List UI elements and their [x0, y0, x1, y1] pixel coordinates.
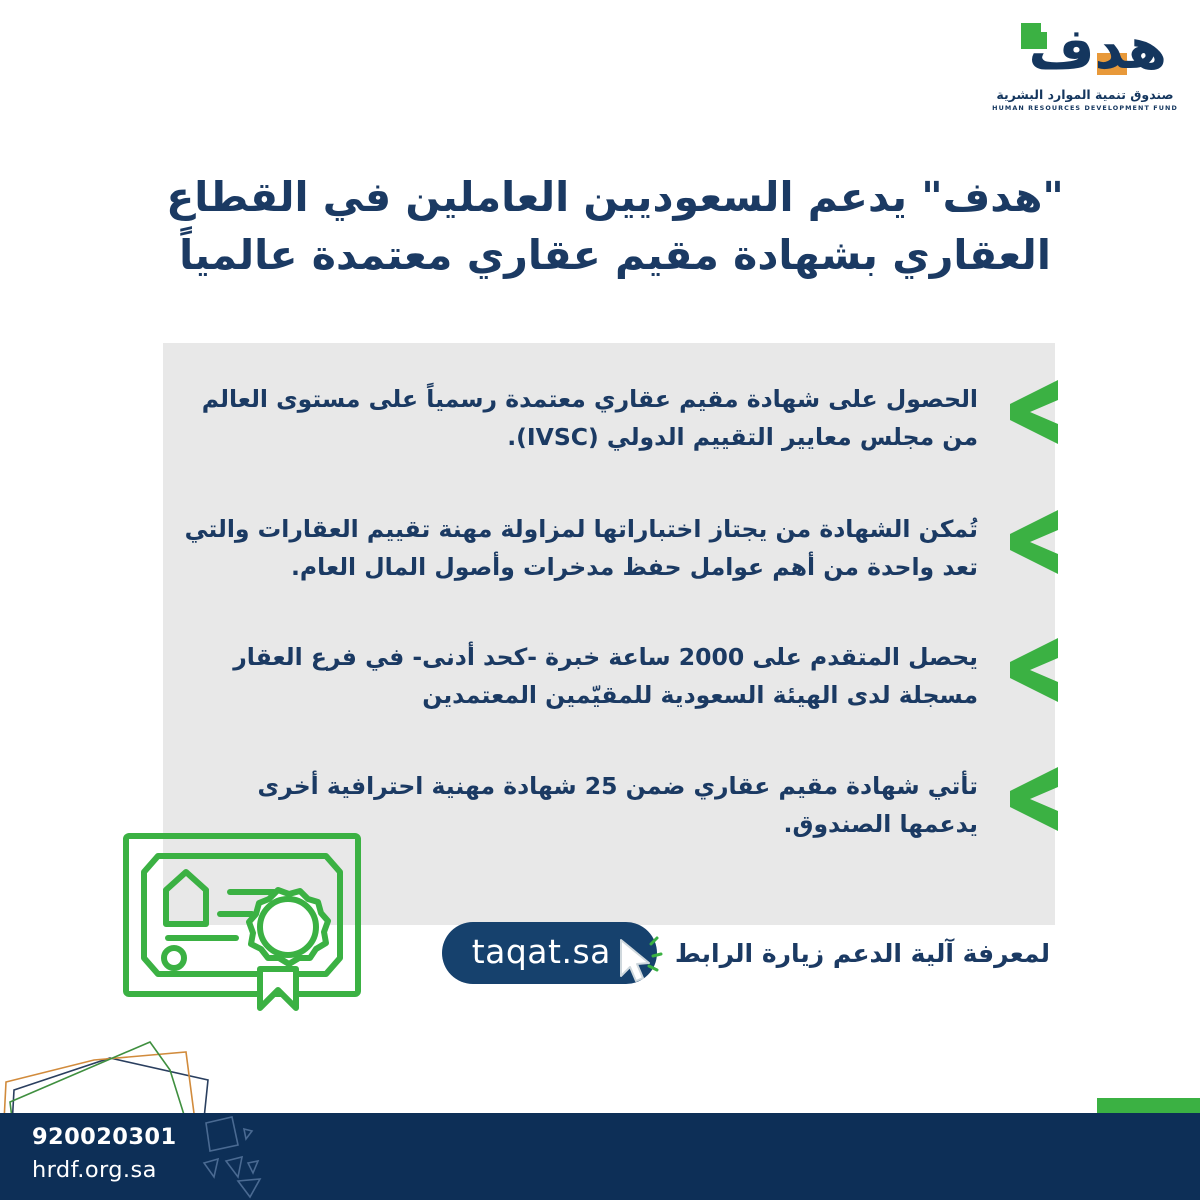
chevron-left-icon: [1000, 508, 1060, 576]
chevron-left-icon: [1000, 765, 1060, 833]
page-title: "هدف" يدعم السعوديين العاملين في القطاع …: [140, 168, 1090, 284]
taqat-link-button[interactable]: taqat.sa: [442, 922, 657, 984]
footer-website[interactable]: hrdf.org.sa: [32, 1157, 157, 1183]
list-item-text: الحصول على شهادة مقيم عقاري معتمدة رسميا…: [180, 378, 978, 456]
list-item: يحصل المتقدم على 2000 ساعة خبرة -كحد أدن…: [180, 636, 1060, 714]
logo-wordmark: هدف: [1028, 16, 1167, 82]
poster-canvas: هدف صندوق تنمية الموارد البشرية HUMAN RE…: [0, 0, 1200, 1200]
list-item-text: تُمكن الشهادة من يجتاز اختباراتها لمزاول…: [180, 508, 978, 586]
list-item-text: يحصل المتقدم على 2000 ساعة خبرة -كحد أدن…: [180, 636, 978, 714]
hrdf-logo: هدف صندوق تنمية الموارد البشرية HUMAN RE…: [990, 20, 1180, 125]
cta-row: لمعرفة آلية الدعم زيارة الرابط taqat.sa: [350, 922, 1050, 984]
logo-name-english: HUMAN RESOURCES DEVELOPMENT FUND: [990, 104, 1180, 112]
cta-button-wrap: taqat.sa: [442, 922, 657, 984]
certificate-icon: [118, 828, 390, 1014]
logo-name-arabic: صندوق تنمية الموارد البشرية: [990, 87, 1180, 102]
list-item: الحصول على شهادة مقيم عقاري معتمدة رسميا…: [180, 378, 1060, 456]
footer-bar: [0, 1113, 1200, 1200]
logo-mark: هدف: [997, 20, 1173, 86]
list-item: تُمكن الشهادة من يجتاز اختباراتها لمزاول…: [180, 508, 1060, 586]
chevron-left-icon: [1000, 378, 1060, 446]
footer-phone: 920020301: [32, 1124, 177, 1150]
cta-label: لمعرفة آلية الدعم زيارة الرابط: [675, 939, 1050, 968]
chevron-left-icon: [1000, 636, 1060, 704]
